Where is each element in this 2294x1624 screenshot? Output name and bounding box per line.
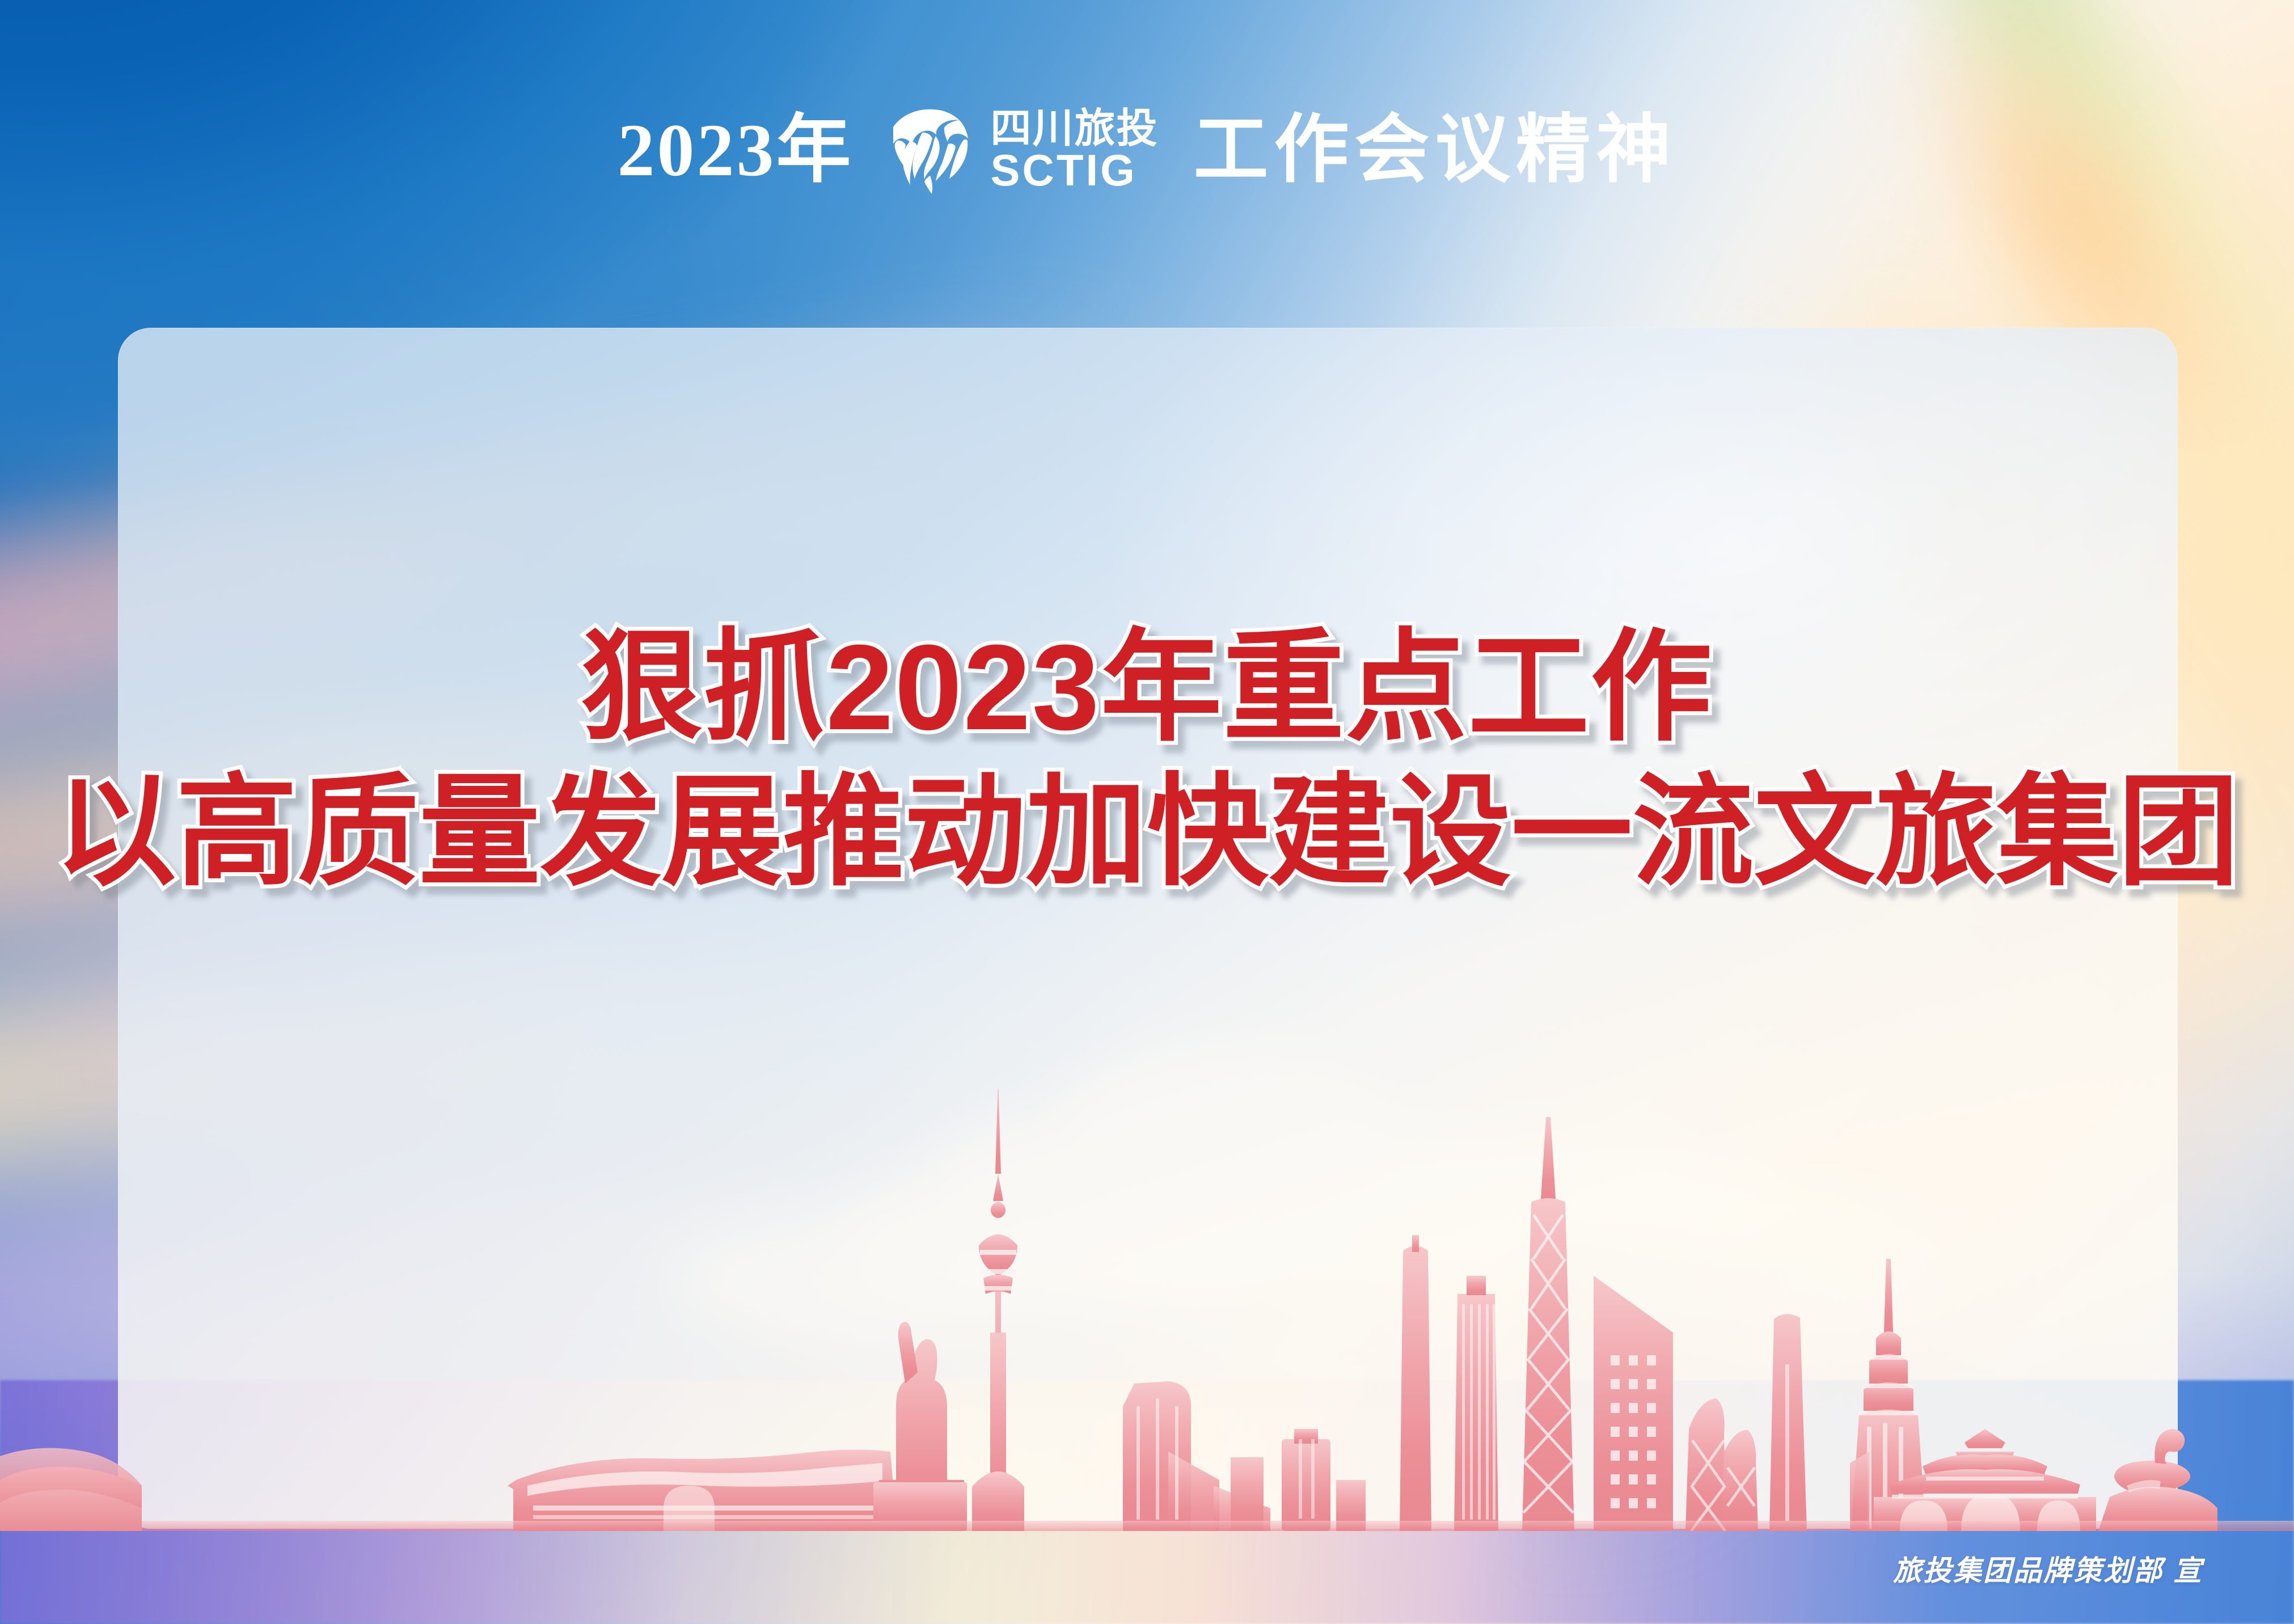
header-subject-label: 工作会议精神 (1194, 113, 1677, 188)
header-bar: 2023年 四川 (0, 85, 2294, 215)
main-title-line-1: 狠抓2023年重点工作 (0, 624, 2294, 752)
main-title-line-2: 以高质量发展推动加快建设一流文旅集团 (0, 768, 2294, 897)
panel-highlight (118, 328, 2178, 1529)
sctig-logo: 四川旅投 SCTIG (888, 107, 1158, 194)
sctig-logo-chinese: 四川旅投 (990, 109, 1158, 149)
main-title: 狠抓2023年重点工作 以高质量发展推动加快建设一流文旅集团 (0, 624, 2294, 897)
header-year-label: 2023年 (617, 113, 853, 188)
sctig-logo-english: SCTIG (990, 150, 1158, 191)
poster-canvas: 2023年 四川 (0, 0, 2294, 1624)
footer-credit: 旅投集团品牌策划部 宣 (1893, 1548, 2203, 1589)
sctig-logo-wordmark: 四川旅投 SCTIG (990, 109, 1158, 191)
content-panel (118, 328, 2178, 1529)
sctig-globe-logo-icon (888, 107, 973, 194)
